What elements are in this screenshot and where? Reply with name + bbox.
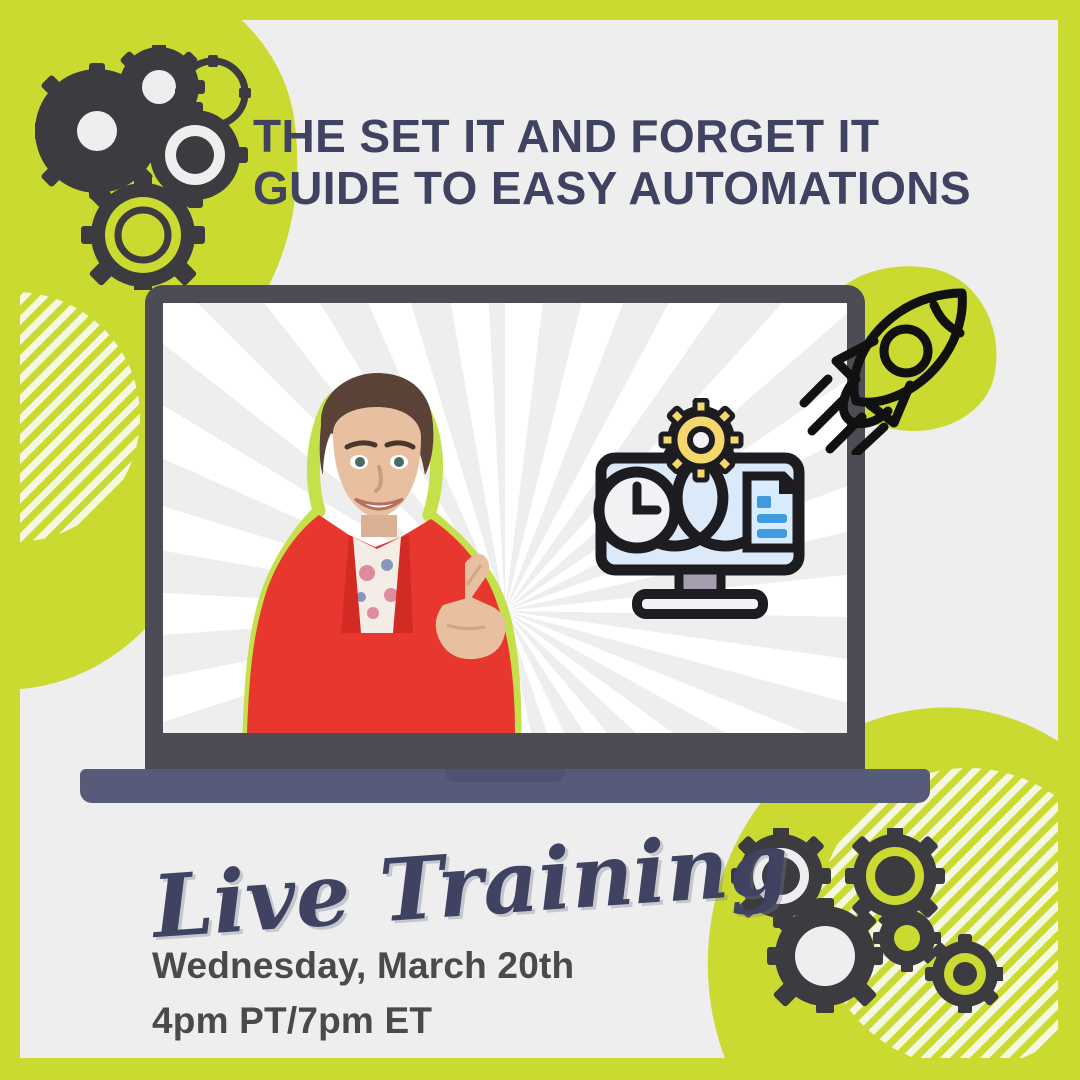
poster-frame: THE SET IT AND FORGET IT GUIDE TO EASY A… — [0, 0, 1080, 1080]
event-time: 4pm PT/7pm ET — [152, 1000, 432, 1042]
laptop-screen — [163, 303, 847, 733]
laptop-trackpad-notch — [445, 769, 565, 782]
laptop-lid — [145, 285, 865, 773]
rocket-icon — [798, 275, 988, 460]
automation-monitor-icon — [575, 398, 825, 633]
laptop-base — [80, 769, 930, 803]
event-script-title: Live Training — [149, 813, 792, 958]
headline-line-1: THE SET IT AND FORGET IT — [253, 110, 879, 162]
gear-cluster-top-left — [35, 45, 255, 295]
headline-line-2: GUIDE TO EASY AUTOMATIONS — [253, 162, 1013, 214]
event-date: Wednesday, March 20th — [152, 945, 574, 987]
page-title: THE SET IT AND FORGET IT GUIDE TO EASY A… — [253, 110, 1013, 215]
poster-canvas: THE SET IT AND FORGET IT GUIDE TO EASY A… — [20, 20, 1058, 1058]
presenter-photo — [215, 333, 545, 733]
